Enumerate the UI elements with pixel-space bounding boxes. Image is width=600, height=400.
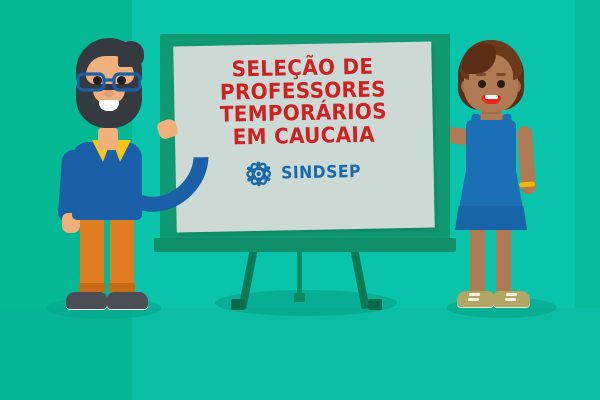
man-shoe-left bbox=[66, 292, 107, 309]
atom-icon bbox=[245, 160, 274, 189]
man-neck bbox=[98, 128, 118, 150]
woman-shoe-lace-right-1 bbox=[506, 293, 517, 296]
woman-shoe-lace-right-2 bbox=[505, 298, 516, 301]
floor-left-band bbox=[0, 308, 132, 400]
man-shoe-right bbox=[107, 292, 148, 309]
headline-block: SELEÇÃO DE PROFESSORES TEMPORÁRIOS EM CA… bbox=[219, 56, 388, 149]
poster-canvas: SELEÇÃO DE PROFESSORES TEMPORÁRIOS EM CA… bbox=[0, 0, 600, 400]
poster-paper: SELEÇÃO DE PROFESSORES TEMPORÁRIOS EM CA… bbox=[173, 42, 435, 233]
woman-dress-strap-left bbox=[470, 114, 481, 135]
woman-eyebrow-right bbox=[496, 73, 506, 76]
woman-shoe-lace-left-2 bbox=[468, 298, 479, 301]
woman-eye-right bbox=[497, 80, 505, 88]
woman-leg-right bbox=[496, 226, 511, 294]
woman-eyebrow-left bbox=[476, 73, 486, 76]
easel-foot-left bbox=[231, 299, 245, 310]
woman-skirt-shade bbox=[455, 206, 527, 230]
easel-foot-center bbox=[294, 293, 305, 302]
man-leg-right bbox=[110, 214, 134, 294]
woman-teeth bbox=[485, 95, 498, 99]
man-pant-cuff-left bbox=[79, 283, 105, 292]
headline-line-4: EM CAUCAIA bbox=[220, 124, 387, 150]
man-pant-cuff-right bbox=[109, 283, 135, 292]
sindsep-logo: SINDSEP bbox=[245, 158, 365, 188]
easel-foot-right bbox=[368, 299, 382, 310]
woman-eye-left bbox=[478, 80, 486, 88]
woman-leg-left bbox=[470, 226, 485, 294]
woman-shoe-lace-left-1 bbox=[469, 293, 480, 296]
man-hair-quiff bbox=[118, 41, 144, 67]
woman-dress-strap-right bbox=[502, 114, 513, 135]
man-leg-left bbox=[80, 214, 104, 294]
sindsep-wordmark: SINDSEP bbox=[281, 162, 361, 184]
glasses-icon bbox=[77, 72, 141, 92]
